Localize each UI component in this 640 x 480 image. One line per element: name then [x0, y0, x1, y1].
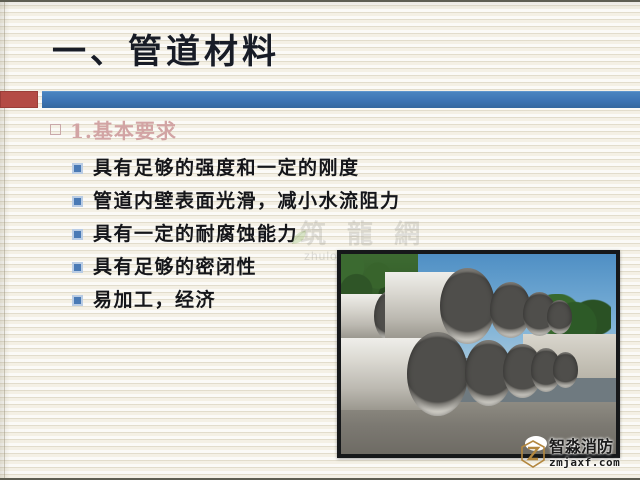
- photo-canvas: [341, 254, 616, 454]
- list-item-label: 管道内壁表面光滑，减小水流阻力: [93, 187, 401, 216]
- brand-name-cn: 智淼消防: [549, 439, 620, 455]
- list-item-label: 易加工，经济: [93, 286, 216, 315]
- list-item-label: 具有足够的密闭性: [93, 253, 257, 282]
- blue-square-bullet-icon: [72, 196, 83, 207]
- divider-red-block: [0, 91, 38, 108]
- list-item-label: 具有足够的强度和一定的刚度: [93, 154, 360, 183]
- pipe-upper-main-face: [440, 268, 495, 344]
- blue-square-bullet-icon: [72, 163, 83, 174]
- list-item: 具有足够的强度和一定的刚度: [72, 154, 492, 187]
- brand-url: zmjaxf.com: [549, 457, 620, 468]
- slide-title: 一、管道材料: [52, 24, 280, 73]
- brand-logo-text: 智淼消防 zmjaxf.com: [549, 439, 620, 468]
- section-heading-label: 1.基本要求: [70, 115, 177, 144]
- left-margin-rule: [4, 2, 5, 478]
- hollow-square-bullet-icon: [50, 124, 61, 135]
- blue-square-bullet-icon: [72, 295, 83, 306]
- shield-z-logo-icon: [521, 440, 545, 468]
- list-item-label: 具有一定的耐腐蚀能力: [93, 220, 298, 249]
- section-heading-row: 1.基本要求: [50, 115, 177, 144]
- list-item: 管道内壁表面光滑，减小水流阻力: [72, 187, 492, 220]
- list-item: 具有一定的耐腐蚀能力: [72, 220, 492, 253]
- blue-square-bullet-icon: [72, 262, 83, 273]
- brand-logo[interactable]: 智淼消防 zmjaxf.com: [521, 439, 620, 468]
- blue-square-bullet-icon: [72, 229, 83, 240]
- pipe-lower-5-face: [553, 352, 578, 388]
- pipe-photo: [337, 250, 620, 458]
- pipe-lower-main-face: [407, 332, 468, 416]
- pipe-upper-4-face: [547, 300, 572, 334]
- slide-canvas: 一、管道材料 1.基本要求 具有足够的强度和一定的刚度 管道内壁表面光滑，减小水…: [0, 0, 640, 480]
- divider-blue-bar: [42, 91, 640, 108]
